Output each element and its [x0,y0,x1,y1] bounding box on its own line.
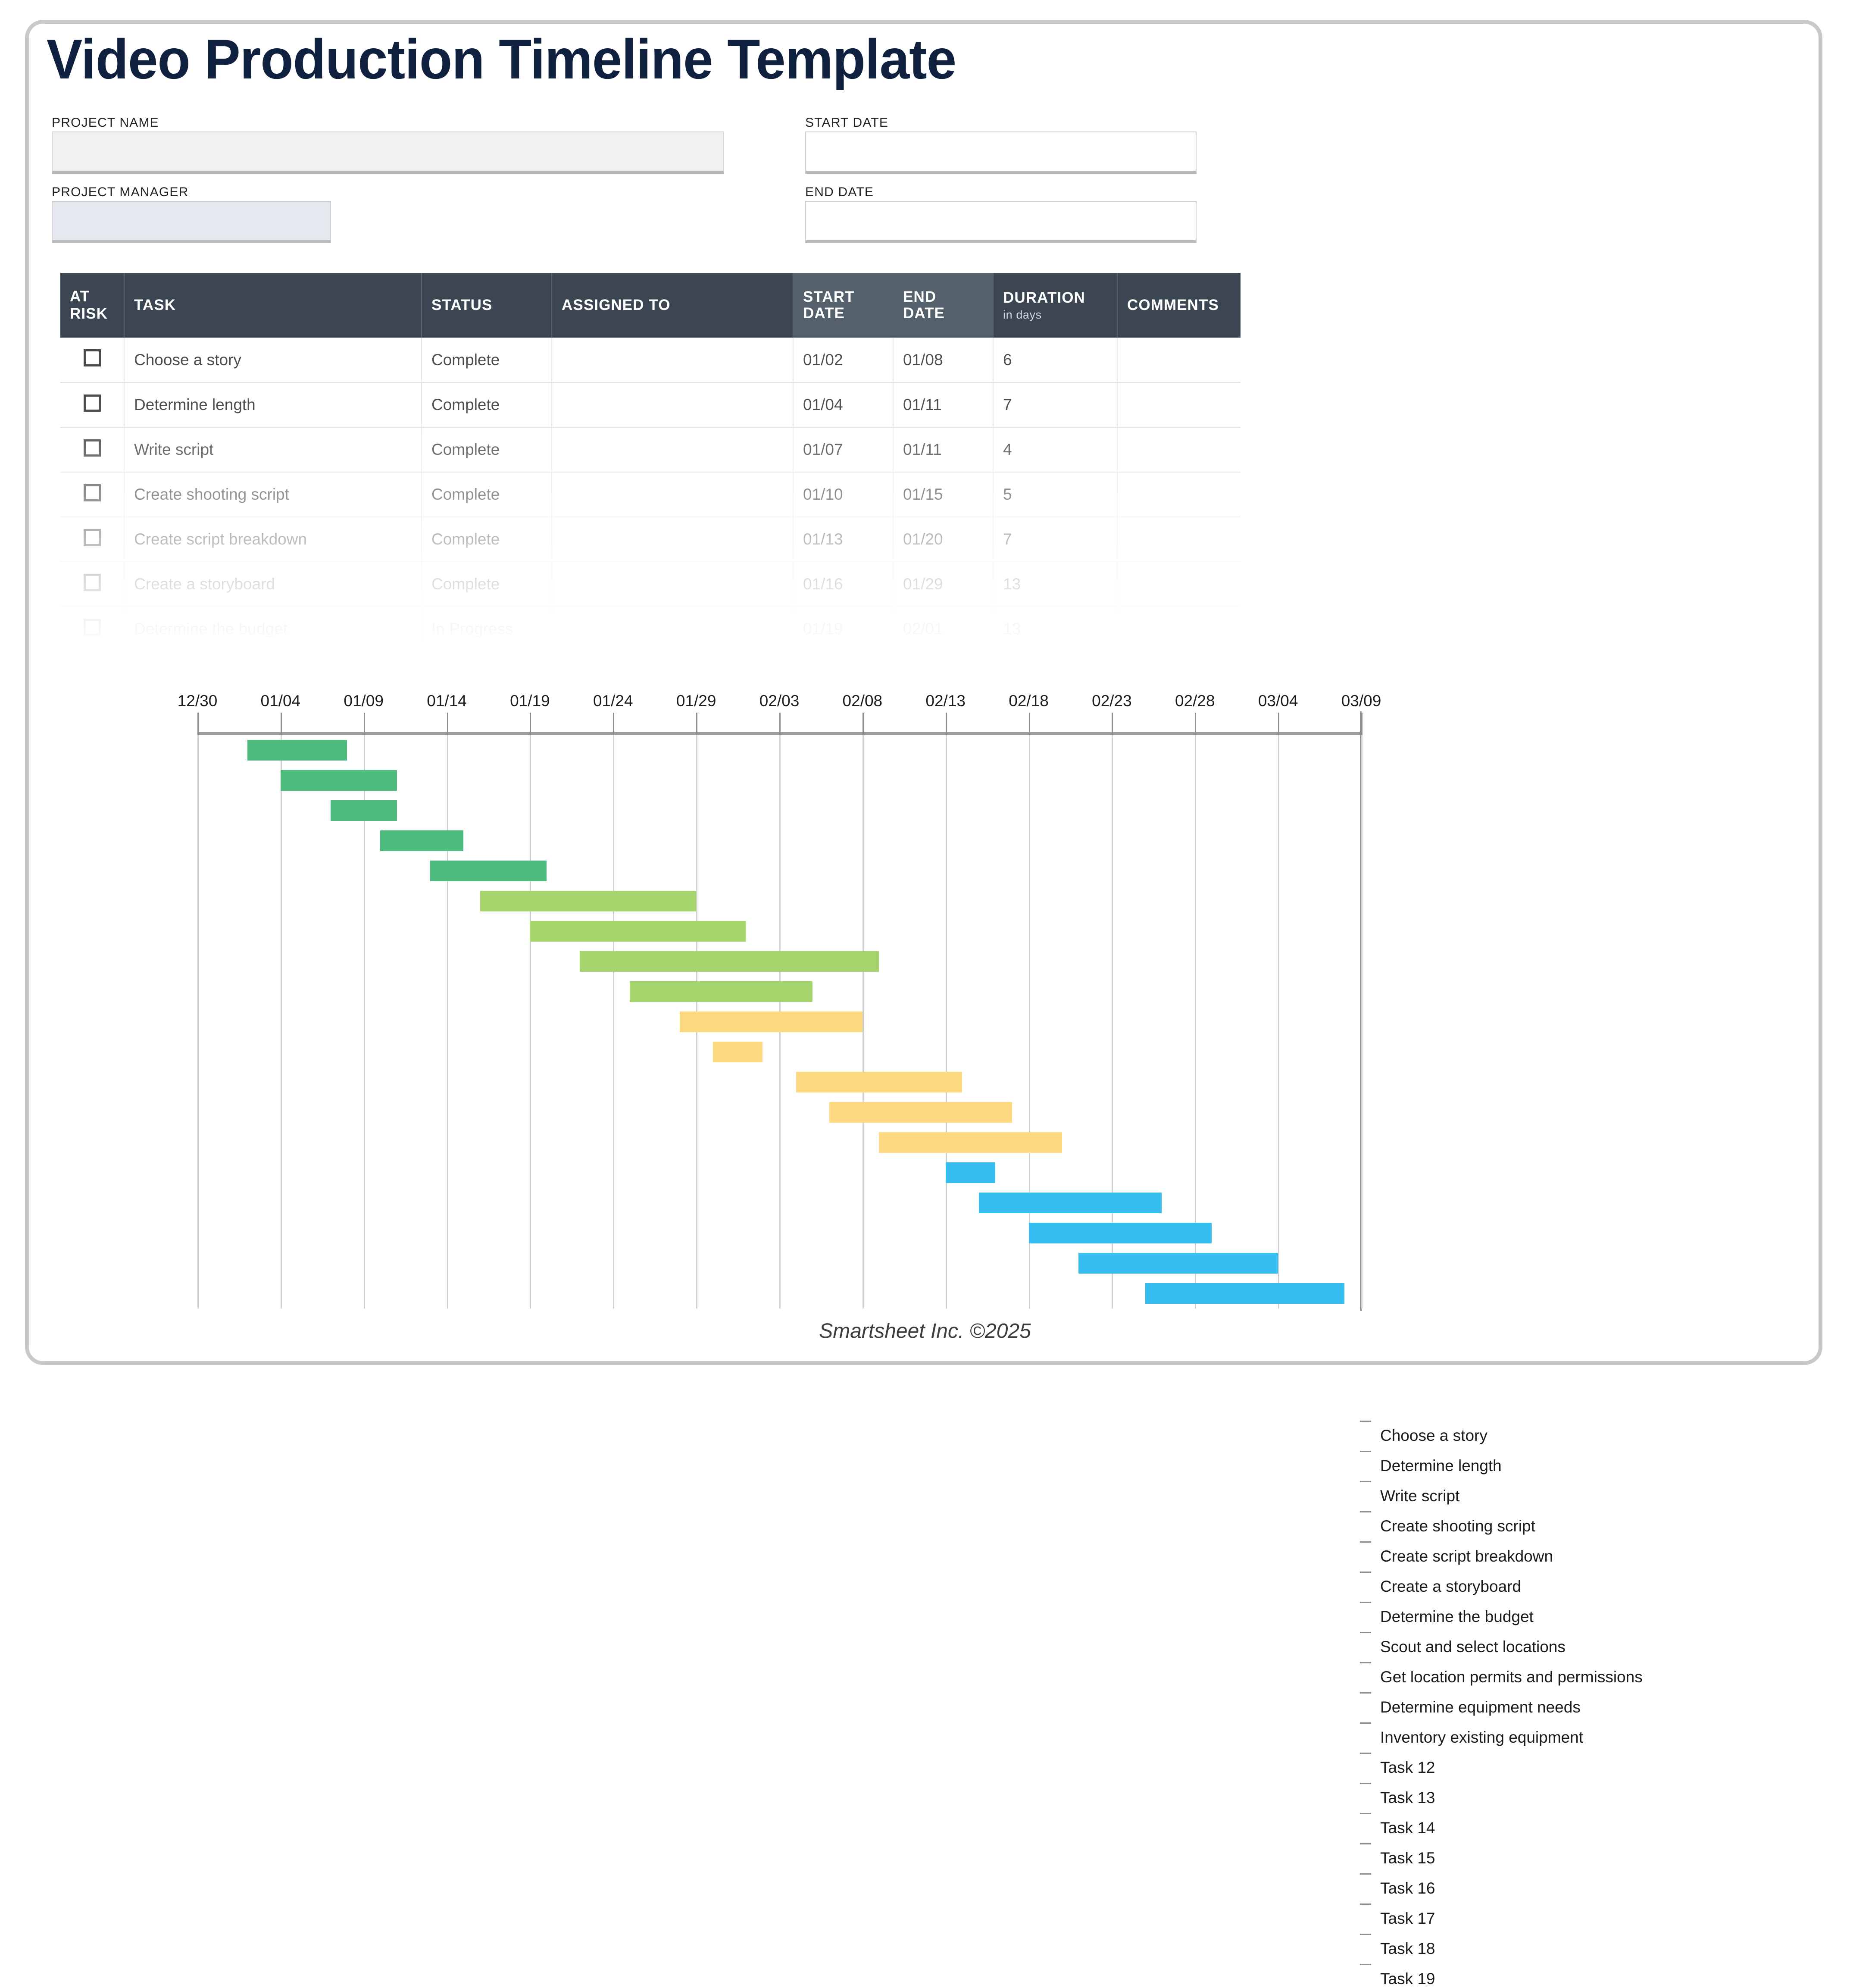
cell-status[interactable]: Complete [422,427,552,472]
gantt-bar[interactable] [247,740,347,761]
cell-end-date[interactable]: 01/29 [893,562,993,607]
table-row[interactable]: Determine the budgetIn Progress01/1902/0… [60,607,1241,651]
gantt-y-tick [1360,1813,1371,1814]
task-table: AT RISK TASK STATUS ASSIGNED TO START DA… [60,273,1241,674]
gantt-bar[interactable] [796,1072,962,1093]
gantt-x-label: 03/04 [1258,692,1298,710]
gantt-x-tick [696,713,697,735]
gantt-plot-area: 12/3001/0401/0901/1401/1901/2401/2902/03… [197,735,1361,1309]
gantt-bar[interactable] [630,981,812,1002]
gantt-bar[interactable] [946,1162,996,1183]
cell-at-risk[interactable] [60,651,124,674]
cell-comments[interactable] [1117,517,1241,562]
cell-duration[interactable]: 13 [993,562,1117,607]
cell-start-date[interactable]: 01/10 [793,472,893,517]
project-name-label: PROJECT NAME [52,116,159,130]
gantt-bar[interactable] [879,1132,1062,1153]
cell-assigned-to[interactable] [552,427,793,472]
gantt-task-label: Inventory existing equipment [1380,1728,1583,1747]
task-table-body: Choose a storyComplete01/0201/086Determi… [60,338,1241,674]
cell-assigned-to[interactable] [552,562,793,607]
gantt-y-tick [1360,1602,1371,1603]
table-row[interactable]: Determine lengthComplete01/0401/117 [60,382,1241,427]
gantt-task-label: Scout and select locations [1380,1638,1566,1656]
cell-assigned-to[interactable] [552,338,793,382]
cell-assigned-to[interactable] [552,382,793,427]
cell-status[interactable]: In Progress [422,651,552,674]
gantt-task-label: Task 14 [1380,1819,1435,1837]
col-header-start-date[interactable]: START DATE [793,273,893,338]
gantt-x-label: 01/04 [261,692,301,710]
table-header-row: AT RISK TASK STATUS ASSIGNED TO START DA… [60,273,1241,338]
cell-end-date[interactable]: 01/08 [893,338,993,382]
gantt-x-label: 02/13 [925,692,966,710]
cell-at-risk[interactable] [60,427,124,472]
cell-end-date[interactable]: 02/01 [893,607,993,651]
cell-status[interactable]: Complete [422,382,552,427]
cell-end-date[interactable]: 01/20 [893,517,993,562]
gantt-gridline [530,735,531,1309]
table-row[interactable]: Create script breakdownComplete01/1301/2… [60,517,1241,562]
gantt-task-label: Write script [1380,1487,1459,1505]
cell-end-date[interactable]: 02/09 [893,651,993,674]
end-date-label: END DATE [805,185,874,200]
gantt-x-label: 01/29 [676,692,716,710]
gantt-gridline [1361,735,1362,1309]
cell-duration[interactable]: 4 [993,427,1117,472]
gantt-y-tick [1360,1511,1371,1512]
col-header-at-risk[interactable]: AT RISK [60,273,124,338]
gantt-bar[interactable] [829,1102,1012,1123]
cell-at-risk[interactable] [60,382,124,427]
cell-task[interactable]: Create shooting script [124,472,422,517]
gantt-x-tick [862,713,864,735]
at-risk-checkbox[interactable] [84,484,101,501]
at-risk-checkbox[interactable] [84,394,101,412]
gantt-bar[interactable] [430,861,547,881]
gantt-x-label: 01/14 [427,692,467,710]
gantt-bar[interactable] [331,800,397,821]
gantt-gridline [447,735,448,1309]
gantt-y-tick [1360,1541,1371,1543]
cell-comments[interactable] [1117,338,1241,382]
gantt-x-label: 12/30 [178,692,218,710]
cell-comments[interactable] [1117,382,1241,427]
gantt-y-tick [1360,1632,1371,1633]
gantt-x-label: 01/09 [344,692,384,710]
gantt-x-tick [1112,713,1113,735]
cell-at-risk[interactable] [60,517,124,562]
gantt-bar[interactable] [1078,1253,1278,1274]
gantt-x-tick [1361,713,1362,735]
at-risk-checkbox[interactable] [84,439,101,457]
gantt-gridline [197,735,199,1309]
cell-task[interactable]: Scout and select locations [124,651,422,674]
gantt-chart: 12/3001/0401/0901/1401/1901/2401/2902/03… [0,686,1850,1324]
gantt-gridline [613,735,614,1309]
project-name-input[interactable] [52,131,724,174]
gantt-y-tick [1360,1692,1371,1694]
table-row[interactable]: Choose a storyComplete01/0201/086 [60,338,1241,382]
gantt-y-tick [1360,1753,1371,1754]
col-header-assigned-to[interactable]: ASSIGNED TO [552,273,793,338]
cell-duration[interactable]: 7 [993,517,1117,562]
gantt-y-tick [1360,1662,1371,1663]
cell-task[interactable]: Determine length [124,382,422,427]
cell-task[interactable]: Choose a story [124,338,422,382]
cell-duration[interactable]: 5 [993,472,1117,517]
gantt-x-label: 01/19 [510,692,550,710]
col-header-duration-sub: in days [1003,308,1107,322]
footer-credit: Smartsheet Inc. ©2025 [0,1319,1850,1343]
gantt-gridline [364,735,365,1309]
gantt-bar[interactable] [281,770,397,791]
at-risk-checkbox[interactable] [84,349,101,366]
gantt-task-label: Create a storyboard [1380,1578,1521,1596]
gantt-gridline [281,735,282,1309]
col-header-end-date-line1: END [903,289,983,305]
gantt-task-label: Task 18 [1380,1940,1435,1958]
cell-start-date[interactable]: 01/16 [793,562,893,607]
at-risk-checkbox[interactable] [84,529,101,546]
cell-status[interactable]: Complete [422,338,552,382]
col-header-task[interactable]: TASK [124,273,422,338]
gantt-x-tick [530,713,531,735]
gantt-y-tick [1360,1722,1371,1724]
col-header-duration-main: DURATION [1003,289,1085,306]
gantt-x-tick [779,713,781,735]
gantt-task-label: Determine the budget [1380,1608,1534,1626]
gantt-x-tick [364,713,365,735]
cell-start-date[interactable]: 01/04 [793,382,893,427]
gantt-y-tick [1360,1903,1371,1905]
template-page: Video Production Timeline Template PROJE… [0,0,1850,1387]
cell-task[interactable]: Create a storyboard [124,562,422,607]
col-header-start-date-line2: DATE [803,305,883,322]
gantt-bar[interactable] [979,1193,1162,1213]
col-header-end-date-line2: DATE [903,305,983,322]
gantt-task-label: Create shooting script [1380,1517,1535,1535]
cell-start-date[interactable]: 01/02 [793,338,893,382]
gantt-y-tick [1360,1843,1371,1844]
task-table-container: AT RISK TASK STATUS ASSIGNED TO START DA… [60,273,1241,674]
gantt-x-label: 03/09 [1341,692,1381,710]
gantt-y-tick [1360,1934,1371,1935]
cell-at-risk[interactable] [60,562,124,607]
gantt-x-tick [447,713,448,735]
gantt-bar[interactable] [480,891,696,911]
cell-comments[interactable] [1117,472,1241,517]
start-date-label: START DATE [805,116,888,130]
gantt-x-tick [946,713,947,735]
gantt-x-label: 01/24 [593,692,633,710]
cell-start-date[interactable]: 01/22 [793,651,893,674]
gantt-bar[interactable] [680,1011,862,1032]
gantt-task-label: Task 12 [1380,1759,1435,1777]
gantt-x-tick [1029,713,1030,735]
gantt-task-label: Determine length [1380,1457,1502,1475]
gantt-task-label: Get location permits and permissions [1380,1668,1643,1686]
gantt-y-tick [1360,1572,1371,1573]
table-row[interactable]: Write scriptComplete01/0701/114 [60,427,1241,472]
cell-task[interactable]: Write script [124,427,422,472]
gantt-task-label: Determine equipment needs [1380,1698,1581,1716]
col-header-start-date-line1: START [803,289,883,305]
gantt-gridline [862,735,864,1309]
cell-at-risk[interactable] [60,472,124,517]
gantt-bar[interactable] [1145,1283,1345,1304]
gantt-gridline [1278,735,1279,1309]
gantt-x-label: 02/08 [843,692,883,710]
gantt-gridline [946,735,947,1309]
gantt-y-tick [1360,1451,1371,1452]
cell-duration[interactable]: 18 [993,651,1117,674]
cell-task[interactable]: Determine the budget [124,607,422,651]
table-row[interactable]: Scout and select locationsIn Progress01/… [60,651,1241,674]
gantt-x-tick [1278,713,1279,735]
col-header-end-date[interactable]: END DATE [893,273,993,338]
gantt-x-tick [613,713,614,735]
cell-start-date[interactable]: 01/19 [793,607,893,651]
project-manager-label: PROJECT MANAGER [52,185,189,200]
gantt-x-label: 02/03 [759,692,800,710]
gantt-x-tick [197,713,199,735]
gantt-task-label: Task 16 [1380,1879,1435,1897]
gantt-x-tick [1195,713,1196,735]
gantt-x-label: 02/28 [1175,692,1215,710]
cell-at-risk[interactable] [60,338,124,382]
cell-assigned-to[interactable] [552,472,793,517]
gantt-y-tick [1360,1783,1371,1784]
cell-comments[interactable] [1117,651,1241,674]
page-title: Video Production Timeline Template [47,27,956,91]
gantt-y-tick [1360,1481,1371,1482]
cell-assigned-to[interactable] [552,517,793,562]
cell-start-date[interactable]: 01/07 [793,427,893,472]
cell-duration[interactable]: 7 [993,382,1117,427]
gantt-bar[interactable] [713,1042,763,1062]
col-header-comments[interactable]: COMMENTS [1117,273,1241,338]
end-date-input[interactable] [805,201,1197,243]
cell-duration[interactable]: 6 [993,338,1117,382]
cell-end-date[interactable]: 01/15 [893,472,993,517]
gantt-y-tick [1360,1421,1371,1422]
cell-end-date[interactable]: 01/11 [893,382,993,427]
gantt-task-label: Choose a story [1380,1427,1487,1445]
cell-comments[interactable] [1117,427,1241,472]
cell-comments[interactable] [1117,562,1241,607]
gantt-bar[interactable] [1029,1223,1212,1243]
gantt-bar[interactable] [380,830,463,851]
cell-end-date[interactable]: 01/11 [893,427,993,472]
gantt-bar[interactable] [580,951,879,972]
cell-status[interactable]: Complete [422,517,552,562]
start-date-input[interactable] [805,131,1197,174]
cell-task[interactable]: Create script breakdown [124,517,422,562]
cell-at-risk[interactable] [60,607,124,651]
gantt-x-label: 02/18 [1009,692,1049,710]
at-risk-checkbox[interactable] [84,619,101,636]
gantt-task-label: Task 17 [1380,1910,1435,1928]
gantt-task-label: Task 15 [1380,1849,1435,1867]
cell-status[interactable]: In Progress [422,607,552,651]
cell-duration[interactable]: 13 [993,607,1117,651]
cell-comments[interactable] [1117,607,1241,651]
cell-assigned-to[interactable] [552,651,793,674]
cell-status[interactable]: Complete [422,562,552,607]
cell-start-date[interactable]: 01/13 [793,517,893,562]
col-header-duration[interactable]: DURATION in days [993,273,1117,338]
table-row[interactable]: Create a storyboardComplete01/1601/2913 [60,562,1241,607]
gantt-bar[interactable] [530,921,746,942]
col-header-status[interactable]: STATUS [422,273,552,338]
cell-status[interactable]: Complete [422,472,552,517]
at-risk-checkbox[interactable] [84,664,101,674]
gantt-x-label: 02/23 [1092,692,1132,710]
gantt-task-label: Task 19 [1380,1970,1435,1988]
gantt-x-tick [281,713,282,735]
cell-assigned-to[interactable] [552,607,793,651]
project-manager-input[interactable] [52,201,331,243]
gantt-y-tick [1360,1964,1371,1965]
gantt-y-tick [1360,1873,1371,1875]
table-row[interactable]: Create shooting scriptComplete01/1001/15… [60,472,1241,517]
at-risk-checkbox[interactable] [84,574,101,591]
gantt-task-label: Create script breakdown [1380,1547,1553,1565]
gantt-task-label: Task 13 [1380,1789,1435,1807]
